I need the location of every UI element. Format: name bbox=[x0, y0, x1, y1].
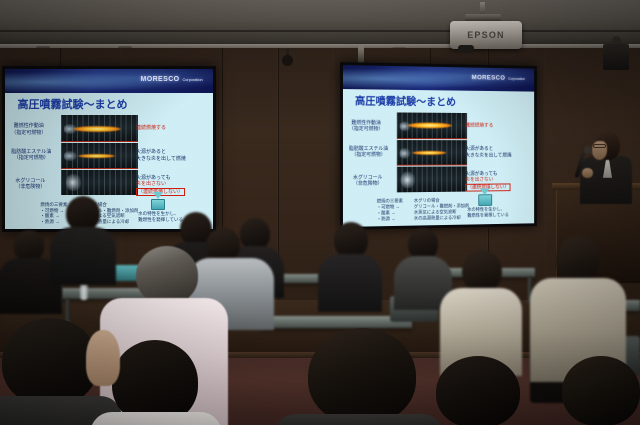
row-label-1: 難燃性作動油 （指定可燃物） bbox=[11, 123, 46, 136]
bottom-right-block: 水の特性を生かし、 難燃性を発揮している bbox=[138, 211, 183, 223]
spray-test-photo-stack bbox=[396, 112, 467, 192]
row-note-1: 連続燃焼する bbox=[465, 122, 493, 128]
glasses-icon bbox=[593, 144, 606, 148]
spray-photo-1 bbox=[61, 115, 138, 141]
water-icon bbox=[151, 199, 166, 210]
bottom-mid-block: 水グリの場合 グリコール・難燃剤・添加剤 水蒸気による空気遮断 水の高潜熱量によ… bbox=[414, 198, 469, 221]
slide-title: 高圧噴霧試験～まとめ bbox=[17, 96, 127, 112]
slide-header-band: MORESCOCorporation bbox=[5, 69, 213, 93]
row-label-2: 脂肪酸エステル油 （指定可燃物） bbox=[349, 146, 388, 158]
projection-screen-left[interactable]: MORESCOCorporation 高圧噴霧試験～まとめ 難燃性作動油 （指定… bbox=[2, 66, 216, 232]
moresco-logo: MORESCOCorporation bbox=[141, 76, 203, 83]
raised-hand bbox=[86, 330, 120, 386]
water-icon bbox=[479, 194, 492, 205]
spray-photo-1 bbox=[396, 112, 467, 138]
presenter-hand bbox=[582, 168, 593, 178]
row-note-2: 火源があると 大きな炎を出して燃焼 bbox=[465, 146, 511, 159]
spray-photo-2 bbox=[396, 140, 467, 166]
bottom-left-block: 燃焼の三要素 ・可燃物 → ・酸素 → ・熱源 → bbox=[377, 199, 403, 222]
microphone-icon bbox=[584, 146, 592, 154]
row-label-2: 脂肪酸エステル油 （指定可燃物） bbox=[11, 149, 51, 162]
row-note-1: 連続燃焼する bbox=[136, 125, 166, 132]
logo-subtext: Corporation bbox=[183, 78, 203, 82]
spray-photo-3 bbox=[61, 170, 138, 196]
row-label-3: 水グリコール （非危険物） bbox=[353, 175, 382, 188]
moresco-logo: MORESCOCorporation bbox=[472, 75, 525, 83]
projection-screen-right[interactable]: MORESCOCorporation 高圧噴霧試験～まとめ 難燃性作動油 （指定… bbox=[340, 62, 537, 230]
spray-photo-2 bbox=[61, 143, 138, 169]
logo-subtext: Corporation bbox=[508, 77, 525, 81]
logo-text: MORESCO bbox=[141, 76, 180, 83]
slide-title: 高圧噴霧試験～まとめ bbox=[355, 93, 456, 109]
bottom-right-block: 水の特性を生かし、 難燃性を発揮している bbox=[467, 207, 508, 219]
bottom-left-block: 燃焼の三要素 ・可燃物 → ・酸素 → ・熱源 → bbox=[40, 202, 67, 225]
row-label-1: 難燃性作動油 （指定可燃物） bbox=[349, 120, 383, 133]
arrow-down-icon bbox=[480, 188, 489, 195]
slide-right: MORESCOCorporation 高圧噴霧試験～まとめ 難燃性作動油 （指定… bbox=[343, 65, 534, 227]
seminar-room-scene: EPSON MORESCOCorporation 高圧噴霧試験～まとめ 難燃性作… bbox=[0, 0, 640, 425]
slide-header-band: MORESCOCorporation bbox=[343, 65, 534, 92]
projector-brand-label: EPSON bbox=[450, 30, 522, 40]
slide-left: MORESCOCorporation 高圧噴霧試験～まとめ 難燃性作動油 （指定… bbox=[5, 69, 213, 229]
wall-spotlight-icon bbox=[282, 55, 293, 66]
spray-test-photo-stack bbox=[61, 115, 138, 195]
row-label-3: 水グリコール （非危険物） bbox=[15, 178, 45, 191]
spray-photo-3 bbox=[396, 166, 467, 192]
arrow-down-icon bbox=[153, 192, 163, 199]
logo-text: MORESCO bbox=[472, 75, 506, 82]
ceiling-seam bbox=[0, 30, 640, 32]
projector-lens bbox=[458, 45, 474, 53]
ceiling-projector: EPSON bbox=[450, 21, 522, 49]
row-note-2: 火源があると 大きな炎を出して燃焼 bbox=[136, 149, 186, 162]
ceiling-speaker bbox=[603, 44, 629, 70]
